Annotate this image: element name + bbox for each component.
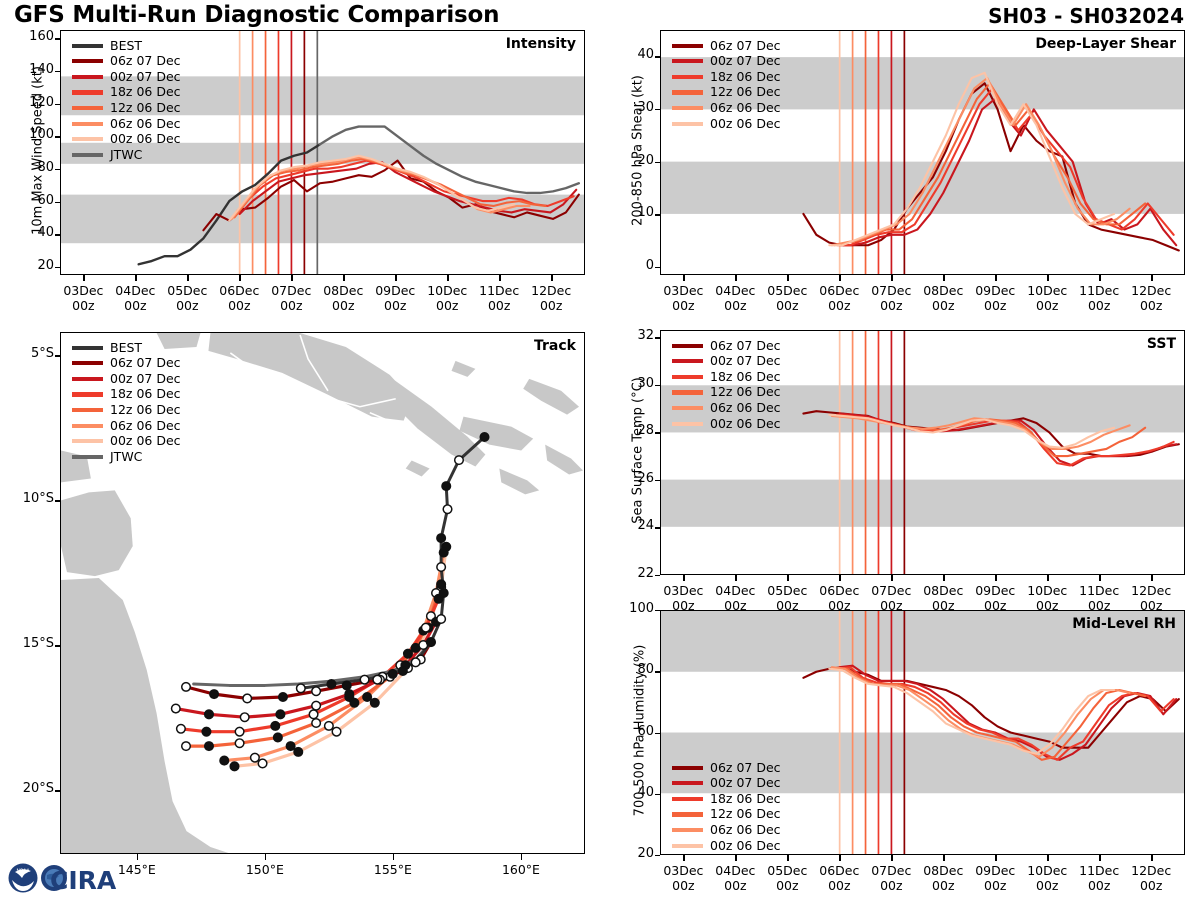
y-tick-mark [655,855,660,856]
lon-tick-mark [393,854,394,860]
legend-item-label: 18z 06 Dec [110,86,181,99]
track-point-12z [312,701,321,710]
legend-item: 00z 06 Dec [672,116,781,132]
legend-item: 06z 06 Dec [72,418,181,434]
x-tick-hour: 00z [1118,298,1184,313]
x-tick-mark [683,855,684,861]
y-tick-mark [55,169,60,170]
track-point-00z [442,482,451,491]
lon-tick-mark [265,854,266,860]
legend-color-swatch [72,153,103,157]
legend-item-label: 18z 06 Dec [710,793,781,806]
y-tick-label: 10 [612,205,654,220]
track-point-12z [373,675,382,684]
legend-item: BEST [72,38,181,54]
legend-item-label: 12z 06 Dec [110,102,181,115]
track-point-12z [332,727,341,736]
track-point-12z [325,722,334,731]
landmass [452,361,476,377]
legend-item: 18z 06 Dec [672,369,781,385]
track-point-12z [312,687,321,696]
y-tick-mark [655,794,660,795]
y-tick-mark [655,56,660,57]
y-tick-mark [655,267,660,268]
y-tick-label: 160 [12,29,54,44]
cira-wordmark: CIRA [41,865,117,895]
legend-color-swatch [72,408,103,412]
legend-item-label: 18z 06 Dec [110,388,181,401]
legend-color-swatch [672,106,703,110]
x-tick-mark [995,275,996,281]
track-point-12z [235,739,244,748]
legend-item: 00z 07 Dec [672,54,781,70]
legend-color-swatch [672,90,703,94]
y-tick-label: 24 [612,518,654,533]
track-point-12z [455,456,464,465]
lon-tick-label: 160°E [486,862,556,877]
legend-color-swatch [672,375,703,379]
legend-color-swatch [672,122,703,126]
x-tick-label: 12Dec00z [518,283,584,314]
legend-item: 00z 06 Dec [72,132,181,148]
legend-item-label: 00z 06 Dec [110,133,181,146]
legend-color-swatch [72,75,103,79]
track-point-00z [345,690,354,699]
legend-item: 12z 06 Dec [672,85,781,101]
track-point-00z [427,638,436,647]
y-tick-label: 140 [12,62,54,77]
y-tick-label: 30 [612,100,654,115]
track-point-00z [210,690,219,699]
y-tick-label: 20 [612,153,654,168]
landmass [523,379,579,415]
track-point-12z [437,615,446,624]
x-tick-mark [1099,275,1100,281]
y-tick-mark [655,337,660,338]
legend-item-label: 06z 06 Dec [710,824,781,837]
landmass [406,461,430,477]
x-tick-mark [83,275,84,281]
lon-tick-label: 155°E [358,862,428,877]
legend-item: 18z 06 Dec [72,85,181,101]
shaded-band [661,480,1184,527]
y-tick-label: 60 [12,193,54,208]
track-point-00z [371,698,380,707]
rh-legend: 06z 07 Dec00z 07 Dec18z 06 Dec12z 06 Dec… [672,760,781,854]
legend-item: 18z 06 Dec [672,69,781,85]
sst-corner-label: SST [1147,336,1176,352]
lon-tick-mark [521,854,522,860]
x-tick-mark [943,575,944,581]
y-tick-label: 40 [612,785,654,800]
track-point-00z [205,742,214,751]
legend-color-swatch [672,422,703,426]
y-tick-mark [55,136,60,137]
legend-item: JTWC [72,147,181,163]
track-point-00z [388,670,397,679]
y-tick-label: 40 [612,47,654,62]
legend-item-label: 18z 06 Dec [710,71,781,84]
track-point-00z [399,667,408,676]
x-tick-mark [395,275,396,281]
track-point-00z [437,580,446,589]
y-tick-mark [655,480,660,481]
x-tick-mark [891,855,892,861]
page-title: GFS Multi-Run Diagnostic Comparison [14,2,499,28]
legend-item: 06z 07 Dec [672,338,781,354]
y-tick-label: 22 [612,566,654,581]
x-tick-mark [839,855,840,861]
x-tick-date: 12Dec [1118,863,1184,878]
x-tick-mark [1047,275,1048,281]
track-point-12z [243,694,252,703]
y-tick-mark [655,527,660,528]
track-point-12z [312,719,321,728]
legend-color-swatch [672,44,703,48]
track-point-12z [297,684,306,693]
legend-color-swatch [72,90,103,94]
x-tick-date: 12Dec [518,283,584,298]
y-tick-mark [655,610,660,611]
svg-text:NOAA: NOAA [16,868,30,874]
track-point-00z [286,742,295,751]
legend-item-label: JTWC [110,451,142,464]
legend-item-label: 00z 07 Dec [110,373,181,386]
legend-item: 06z 06 Dec [672,400,781,416]
legend-item-label: 00z 06 Dec [710,418,781,431]
track-point-12z [182,683,191,692]
x-tick-mark [839,575,840,581]
x-tick-mark [135,275,136,281]
legend-item: 00z 07 Dec [672,354,781,370]
x-tick-mark [1151,275,1152,281]
x-tick-date: 12Dec [1118,283,1184,298]
legend-color-swatch [72,424,103,428]
legend-item-label: 12z 06 Dec [710,386,781,399]
legend-item: 06z 07 Dec [672,38,781,54]
track-point-12z [422,623,431,632]
legend-item-label: 18z 06 Dec [710,371,781,384]
legend-item: 06z 06 Dec [72,116,181,132]
landmass [208,333,411,421]
x-tick-mark [1047,855,1048,861]
track-point-12z [172,704,181,713]
y-tick-label: 32 [612,328,654,343]
gfs-diagnostic-page: GFS Multi-Run Diagnostic Comparison SH03… [0,0,1200,900]
y-tick-label: 28 [612,423,654,438]
legend-item-label: 06z 07 Dec [110,357,181,370]
storm-id-label: SH03 - SH032024 [988,4,1184,28]
legend-item: 06z 07 Dec [72,356,181,372]
landmass [61,490,133,576]
track-point-12z [437,563,446,572]
legend-item-label: 06z 06 Dec [710,102,781,115]
track-point-00z [271,722,280,731]
legend-item-label: BEST [110,40,142,53]
track-point-12z [443,505,452,514]
track-point-00z [480,433,489,442]
x-tick-mark [787,275,788,281]
track-legend: BEST06z 07 Dec00z 07 Dec18z 06 Dec12z 06… [72,340,181,465]
y-tick-mark [55,267,60,268]
legend-item-label: 06z 06 Dec [110,420,181,433]
track-corner-label: Track [534,338,576,354]
landmass [499,468,539,494]
y-tick-label: 100 [612,601,654,616]
track-point-00z [294,748,303,757]
legend-color-swatch [672,59,703,63]
landmass [545,445,583,475]
legend-item: 00z 07 Dec [72,69,181,85]
legend-item-label: 06z 07 Dec [710,762,781,775]
y-tick-mark [55,38,60,39]
legend-color-swatch [72,59,103,63]
legend-item: 12z 06 Dec [672,807,781,823]
legend-color-swatch [72,137,103,141]
track-point-00z [205,710,214,719]
x-tick-label: 12Dec00z [1118,283,1184,314]
legend-item-label: BEST [110,342,142,355]
legend-item: 12z 06 Dec [72,402,181,418]
legend-color-swatch [672,828,703,832]
track-line [301,437,485,688]
x-tick-mark [1047,575,1048,581]
x-tick-mark [891,275,892,281]
legend-color-swatch [72,44,103,48]
legend-color-swatch [72,122,103,126]
legend-item-label: 06z 06 Dec [710,402,781,415]
y-tick-label: 80 [612,662,654,677]
intensity-legend: BEST06z 07 Dec00z 07 Dec18z 06 Dec12z 06… [72,38,181,163]
y-tick-mark [55,234,60,235]
legend-color-swatch [72,439,103,443]
x-tick-mark [735,575,736,581]
track-point-12z [235,727,244,736]
track-point-00z [279,693,288,702]
track-point-12z [309,710,318,719]
x-tick-mark [891,575,892,581]
legend-color-swatch [672,781,703,785]
legend-color-swatch [672,359,703,363]
x-tick-mark [735,855,736,861]
legend-color-swatch [72,455,103,459]
x-tick-mark [187,275,188,281]
shear-corner-label: Deep-Layer Shear [1035,36,1176,52]
legend-item-label: 00z 06 Dec [710,840,781,853]
y-tick-mark [55,202,60,203]
x-tick-mark [995,575,996,581]
legend-item: 00z 06 Dec [672,416,781,432]
legend-color-swatch [672,844,703,848]
x-tick-mark [787,575,788,581]
legend-item-label: 00z 06 Dec [110,435,181,448]
x-tick-mark [995,855,996,861]
track-point-12z [182,742,191,751]
legend-item: BEST [72,340,181,356]
x-tick-label: 12Dec00z [1118,583,1184,614]
x-tick-date: 12Dec [1118,583,1184,598]
legend-color-swatch [72,377,103,381]
track-point-12z [240,713,249,722]
legend-item: 06z 06 Dec [672,100,781,116]
y-tick-label: 120 [12,95,54,110]
landmass [61,578,228,853]
x-tick-mark [787,855,788,861]
y-tick-mark [655,575,660,576]
legend-item: 00z 06 Dec [72,434,181,450]
y-tick-label: 40 [12,225,54,240]
legend-color-swatch [672,812,703,816]
track-point-12z [411,658,420,667]
x-tick-mark [343,275,344,281]
track-point-00z [363,693,372,702]
y-tick-label: 0 [612,258,654,273]
legend-color-swatch [672,75,703,79]
track-point-00z [202,727,211,736]
x-tick-mark [943,275,944,281]
legend-item-label: 00z 07 Dec [710,777,781,790]
track-point-12z [251,753,260,762]
svg-text:CIRA: CIRA [50,866,117,895]
y-tick-mark [655,733,660,734]
legend-color-swatch [672,797,703,801]
legend-color-swatch [672,766,703,770]
noaa-icon: NOAA [9,864,38,893]
legend-item: 00z 07 Dec [72,371,181,387]
legend-color-swatch [672,406,703,410]
legend-item-label: 00z 06 Dec [710,118,781,131]
x-tick-mark [239,275,240,281]
legend-item: 06z 07 Dec [672,760,781,776]
cira-noaa-logo: NOAA CIRA [6,858,138,898]
y-tick-mark [655,671,660,672]
legend-item-label: 00z 07 Dec [710,355,781,368]
y-tick-label: 20 [12,258,54,273]
legend-item: 12z 06 Dec [672,385,781,401]
y-tick-mark [655,109,660,110]
legend-item-label: 12z 06 Dec [710,808,781,821]
legend-color-swatch [72,392,103,396]
lat-tick-mark [55,355,60,356]
x-tick-mark [1151,575,1152,581]
intensity-corner-label: Intensity [506,36,576,52]
track-point-00z [439,548,448,557]
x-tick-mark [839,275,840,281]
track-point-00z [342,681,351,690]
lat-tick-label: 5°S [8,346,54,361]
legend-item-label: 06z 06 Dec [110,118,181,131]
lat-tick-mark [55,500,60,501]
y-tick-label: 20 [612,846,654,861]
x-tick-mark [291,275,292,281]
track-point-12z [177,724,186,733]
x-tick-mark [551,275,552,281]
lon-tick-label: 150°E [230,862,300,877]
x-tick-mark [683,275,684,281]
x-tick-mark [447,275,448,281]
legend-item: 06z 07 Dec [72,54,181,70]
rh-corner-label: Mid-Level RH [1072,616,1176,632]
track-point-12z [360,675,369,684]
track-point-00z [230,762,239,771]
y-tick-mark [655,385,660,386]
y-tick-mark [655,214,660,215]
x-tick-hour: 00z [1118,878,1184,893]
y-tick-label: 100 [12,127,54,142]
legend-item-label: 12z 06 Dec [710,86,781,99]
x-tick-mark [943,855,944,861]
track-point-00z [437,534,446,543]
y-tick-label: 30 [612,376,654,391]
lat-tick-mark [55,790,60,791]
legend-item: 06z 06 Dec [672,822,781,838]
legend-item: 18z 06 Dec [672,791,781,807]
legend-color-swatch [72,346,103,350]
track-point-00z [439,589,448,598]
x-tick-label: 12Dec00z [1118,863,1184,894]
y-tick-label: 80 [12,160,54,175]
track-point-00z [327,680,336,689]
lat-tick-label: 15°S [8,636,54,651]
y-tick-mark [55,104,60,105]
legend-color-swatch [672,344,703,348]
x-tick-mark [1099,855,1100,861]
legend-item: 12z 06 Dec [72,100,181,116]
shear-legend: 06z 07 Dec00z 07 Dec18z 06 Dec12z 06 Dec… [672,38,781,132]
legend-item-label: 12z 06 Dec [110,404,181,417]
legend-item: 00z 06 Dec [672,838,781,854]
x-tick-mark [499,275,500,281]
legend-item-label: 06z 07 Dec [710,340,781,353]
x-tick-mark [1151,855,1152,861]
shear-y-axis-label: 200-850 hPa Shear (kt) [631,41,646,261]
legend-color-swatch [72,361,103,365]
x-tick-mark [735,275,736,281]
track-point-00z [404,649,413,658]
legend-item-label: JTWC [110,149,142,162]
lat-tick-mark [55,645,60,646]
legend-item: 00z 07 Dec [672,776,781,792]
track-point-00z [274,733,283,742]
y-tick-mark [55,71,60,72]
shaded-band [661,162,1184,214]
y-tick-label: 60 [612,724,654,739]
sst-legend: 06z 07 Dec00z 07 Dec18z 06 Dec12z 06 Dec… [672,338,781,432]
y-tick-mark [655,432,660,433]
legend-color-swatch [72,106,103,110]
legend-item: 18z 06 Dec [72,387,181,403]
x-tick-hour: 00z [518,298,584,313]
x-tick-mark [683,575,684,581]
track-point-00z [220,756,229,765]
legend-item-label: 06z 07 Dec [110,55,181,68]
track-point-00z [276,710,285,719]
legend-item-label: 06z 07 Dec [710,40,781,53]
x-tick-mark [1099,575,1100,581]
track-point-12z [258,759,267,768]
y-tick-mark [655,162,660,163]
lat-tick-label: 10°S [8,491,54,506]
legend-color-swatch [672,390,703,394]
legend-item: JTWC [72,449,181,465]
lat-tick-label: 20°S [8,781,54,796]
y-tick-label: 26 [612,471,654,486]
legend-item-label: 00z 07 Dec [110,71,181,84]
legend-item-label: 00z 07 Dec [710,55,781,68]
